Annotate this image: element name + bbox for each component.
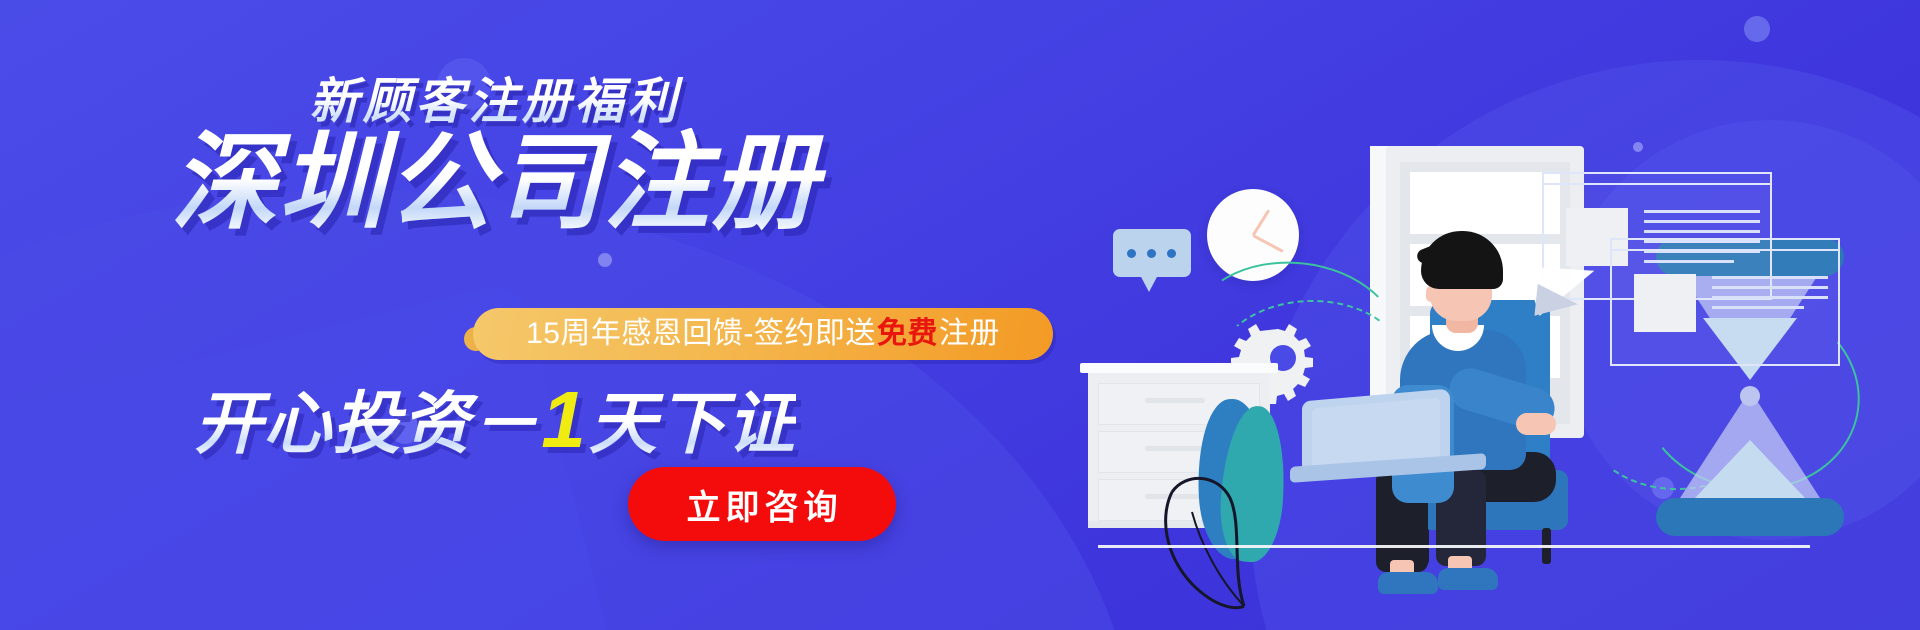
document-card-titlebar — [1612, 240, 1838, 251]
document-card — [1610, 238, 1840, 366]
subline-text: 开心投资－1天下证 — [0, 378, 990, 462]
promo-banner: 新顾客注册福利 深圳公司注册 15周年感恩回馈-签约即送免费注册 开心投资－1天… — [0, 0, 1920, 630]
hourglass-bottom-bar — [1656, 498, 1844, 536]
copy-block: 新顾客注册福利 深圳公司注册 15周年感恩回馈-签约即送免费注册 开心投资－1天… — [0, 0, 1120, 630]
promo-pill-prefix: 15周年感恩回馈-签约即送 — [526, 319, 876, 349]
illustration — [1080, 0, 1920, 630]
document-text-line — [1644, 210, 1760, 213]
document-text-line — [1644, 230, 1760, 233]
document-text-line — [1644, 220, 1760, 223]
person-shoe — [1378, 572, 1438, 594]
chat-bubble-tail — [1140, 275, 1158, 292]
consult-now-button[interactable]: 立即咨询 — [628, 467, 896, 541]
chat-dot — [1167, 249, 1176, 258]
chat-dot — [1147, 249, 1156, 258]
document-text-line — [1712, 306, 1804, 309]
person-hand — [1516, 413, 1556, 435]
document-text-line — [1712, 286, 1828, 289]
person-shoe — [1438, 568, 1498, 590]
paper-plane-shadow — [1534, 284, 1579, 320]
document-text-line — [1712, 276, 1828, 279]
drawer-handle — [1145, 398, 1205, 403]
plant-outline-leaf — [1158, 450, 1288, 610]
document-thumbnail — [1634, 274, 1696, 332]
promo-pill-text: 15周年感恩回馈-签约即送免费注册 — [526, 319, 1000, 349]
subline-number: 1 — [539, 375, 589, 464]
eyebrow-text: 新顾客注册福利 — [0, 62, 990, 133]
consult-now-label: 立即咨询 — [682, 480, 843, 529]
floor-line — [1098, 545, 1810, 548]
chat-dot — [1127, 249, 1136, 258]
subline-before: 开心投资－ — [194, 386, 539, 462]
document-text-line — [1712, 296, 1828, 299]
window-pane — [1410, 172, 1560, 234]
subline-after: 天下证 — [589, 386, 796, 462]
hourglass-lower-sand — [1695, 440, 1805, 498]
document-card-titlebar — [1544, 174, 1770, 185]
promo-pill-suffix: 注册 — [939, 319, 1000, 349]
clock-hand-hour — [1252, 209, 1270, 236]
hourglass-neck — [1740, 386, 1760, 406]
clock-hand-minute — [1252, 234, 1283, 253]
promo-pill-highlight: 免费 — [876, 319, 939, 349]
chat-bubble-icon — [1113, 229, 1191, 277]
headline-text: 深圳公司注册 — [0, 128, 990, 239]
promo-pill: 15周年感恩回馈-签约即送免费注册 — [473, 308, 1053, 360]
